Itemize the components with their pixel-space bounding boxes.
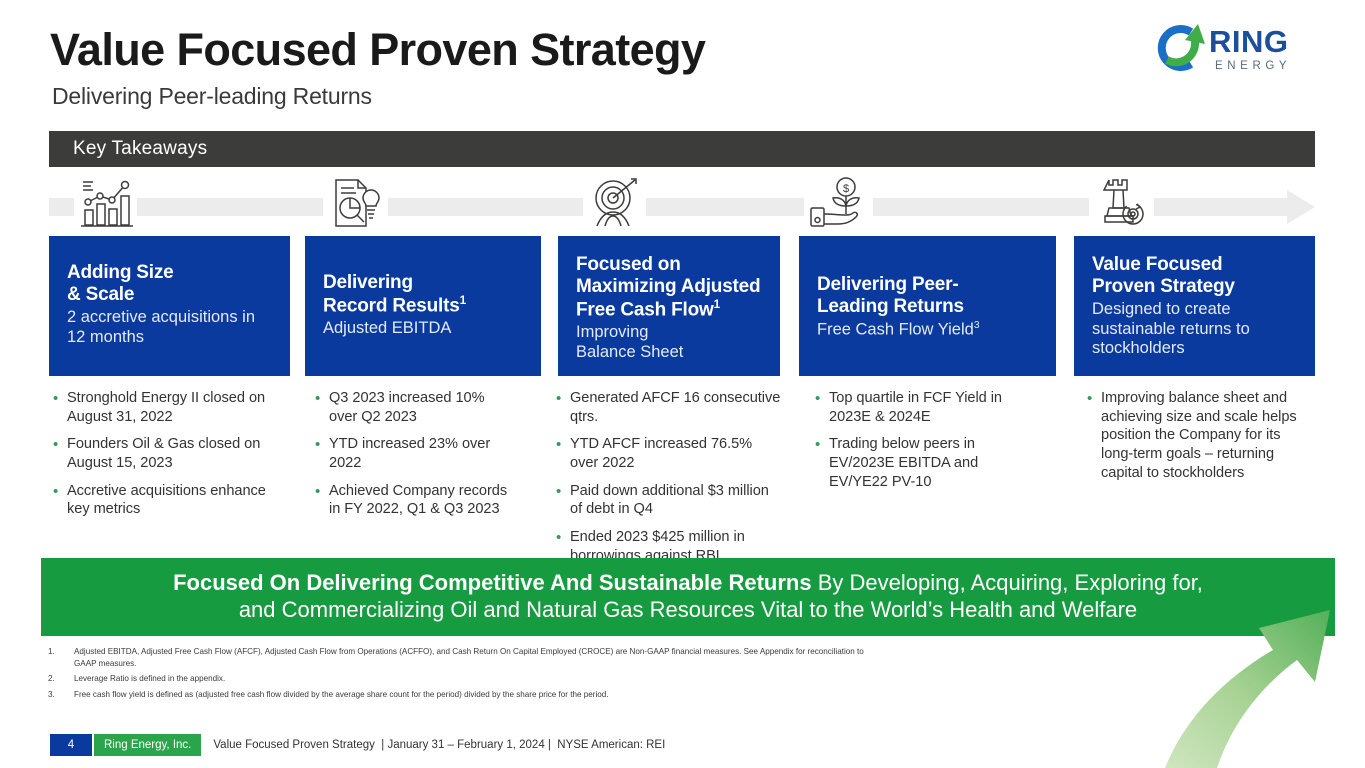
card-heading: Adding Size & Scale — [67, 262, 272, 306]
list-item: •YTD AFCF increased 76.5% over 2022 — [556, 435, 784, 472]
connector-segment — [873, 198, 1089, 216]
card-subtext: Designed to create sustainable returns t… — [1092, 300, 1297, 358]
list-item: •YTD increased 23% over 2022 — [315, 435, 515, 472]
connector-segment — [388, 198, 583, 216]
bullet-dot-icon: • — [53, 389, 67, 426]
right-arrow-icon — [1257, 190, 1315, 224]
bullet-dot-icon: • — [53, 435, 67, 472]
chess-rook-gear-icon — [1092, 176, 1154, 228]
bullet-column-2: •Q3 2023 increased 10% over Q2 2023 •YTD… — [315, 389, 515, 528]
card-heading-footnote-ref: 1 — [714, 298, 720, 311]
svg-text:ENERGY: ENERGY — [1215, 60, 1291, 72]
bullet-column-4: •Top quartile in FCF Yield in 2023E & 20… — [815, 389, 1030, 500]
footer: 4 Ring Energy, Inc. Value Focused Proven… — [50, 734, 665, 756]
bullet-dot-icon: • — [556, 389, 570, 426]
card-heading-footnote-ref: 1 — [460, 294, 466, 307]
card-delivering-peer-leading-returns[interactable]: Delivering Peer- Leading Returns Free Ca… — [799, 236, 1056, 376]
list-item: •Q3 2023 increased 10% over Q2 2023 — [315, 389, 515, 426]
key-takeaways-bar: Key Takeaways — [49, 131, 1315, 167]
connector-segment — [137, 198, 323, 216]
footer-text: Value Focused Proven Strategy | January … — [201, 734, 665, 756]
footnote: 1.Adjusted EBITDA, Adjusted Free Cash Fl… — [48, 646, 878, 669]
bullet-dot-icon: • — [556, 482, 570, 519]
bullet-dot-icon: • — [1087, 389, 1101, 482]
icon-strip: $ — [49, 176, 1315, 234]
bullet-dot-icon: • — [315, 482, 329, 519]
document-analysis-lightbulb-icon — [326, 176, 388, 228]
list-item: •Achieved Company records in FY 2022, Q1… — [315, 482, 515, 519]
list-item: •Founders Oil & Gas closed on August 15,… — [53, 435, 291, 472]
card-heading: Value Focused Proven Strategy — [1092, 254, 1297, 298]
slide: Value Focused Proven Strategy Delivering… — [0, 0, 1365, 768]
banner-line-1-rest: By Developing, Acquiring, Exploring for, — [812, 570, 1203, 595]
list-item: •Generated AFCF 16 consecutive qtrs. — [556, 389, 784, 426]
bullet-dot-icon: • — [815, 435, 829, 491]
banner-line-2: and Commercializing Oil and Natural Gas … — [239, 597, 1137, 624]
connector-segment — [49, 198, 74, 216]
card-subtext: Free Cash Flow Yield3 — [817, 320, 1038, 340]
page-subtitle: Delivering Peer-leading Returns — [52, 83, 372, 110]
card-adding-size-scale[interactable]: Adding Size & Scale 2 accretive acquisit… — [49, 236, 290, 376]
bullet-dot-icon: • — [53, 482, 67, 519]
footnote: 2.Leverage Ratio is defined in the appen… — [48, 673, 878, 685]
card-heading: Focused on Maximizing Adjusted Free Cash… — [576, 254, 762, 321]
bullet-column-3: •Generated AFCF 16 consecutive qtrs. •YT… — [556, 389, 784, 574]
highlight-banner: Focused On Delivering Competitive And Su… — [41, 558, 1335, 636]
card-subtext: Adjusted EBITDA — [323, 319, 523, 338]
list-item: •Stronghold Energy II closed on August 3… — [53, 389, 291, 426]
card-heading: Delivering Peer- Leading Returns — [817, 274, 1038, 318]
footer-company: Ring Energy, Inc. — [94, 734, 201, 756]
bullet-dot-icon: • — [556, 435, 570, 472]
list-item: •Accretive acquisitions enhance key metr… — [53, 482, 291, 519]
hand-money-plant-icon: $ — [806, 176, 868, 228]
bullet-dot-icon: • — [815, 389, 829, 426]
card-value-focused-proven-strategy[interactable]: Value Focused Proven Strategy Designed t… — [1074, 236, 1315, 376]
footnotes: 1.Adjusted EBITDA, Adjusted Free Cash Fl… — [48, 646, 878, 705]
list-item: •Trading below peers in EV/2023E EBITDA … — [815, 435, 1030, 491]
connector-segment — [646, 198, 804, 216]
svg-text:RING: RING — [1209, 24, 1289, 59]
card-subtext-footnote-ref: 3 — [974, 320, 980, 331]
bullet-column-5: •Improving balance sheet and achieving s… — [1087, 389, 1302, 491]
card-focused-on-maximizing-afcf[interactable]: Focused on Maximizing Adjusted Free Cash… — [558, 236, 780, 376]
card-delivering-record-results[interactable]: Delivering Record Results1 Adjusted EBIT… — [305, 236, 541, 376]
key-takeaways-label: Key Takeaways — [73, 138, 207, 160]
connector-segment — [1154, 198, 1264, 216]
banner-line-1-bold: Focused On Delivering Competitive And Su… — [173, 570, 812, 595]
list-item: •Top quartile in FCF Yield in 2023E & 20… — [815, 389, 1030, 426]
card-heading: Delivering Record Results1 — [323, 272, 523, 317]
footnote: 3.Free cash flow yield is defined as (ad… — [48, 689, 878, 701]
page-title: Value Focused Proven Strategy — [50, 26, 705, 73]
bar-chart-growth-icon — [75, 176, 137, 228]
target-bullseye-arrow-icon — [585, 176, 647, 228]
card-subtext: 2 accretive acquisitions in 12 months — [67, 308, 272, 347]
svg-text:$: $ — [843, 183, 849, 195]
ring-energy-logo: RING ENERGY — [1153, 20, 1313, 76]
page-number: 4 — [50, 734, 92, 756]
bullet-dot-icon: • — [315, 435, 329, 472]
list-item: •Improving balance sheet and achieving s… — [1087, 389, 1302, 482]
list-item: •Paid down additional $3 million of debt… — [556, 482, 784, 519]
bullet-dot-icon: • — [315, 389, 329, 426]
card-subtext: Improving Balance Sheet — [576, 323, 762, 362]
bullet-column-1: •Stronghold Energy II closed on August 3… — [53, 389, 291, 528]
banner-line-1: Focused On Delivering Competitive And Su… — [173, 570, 1203, 597]
